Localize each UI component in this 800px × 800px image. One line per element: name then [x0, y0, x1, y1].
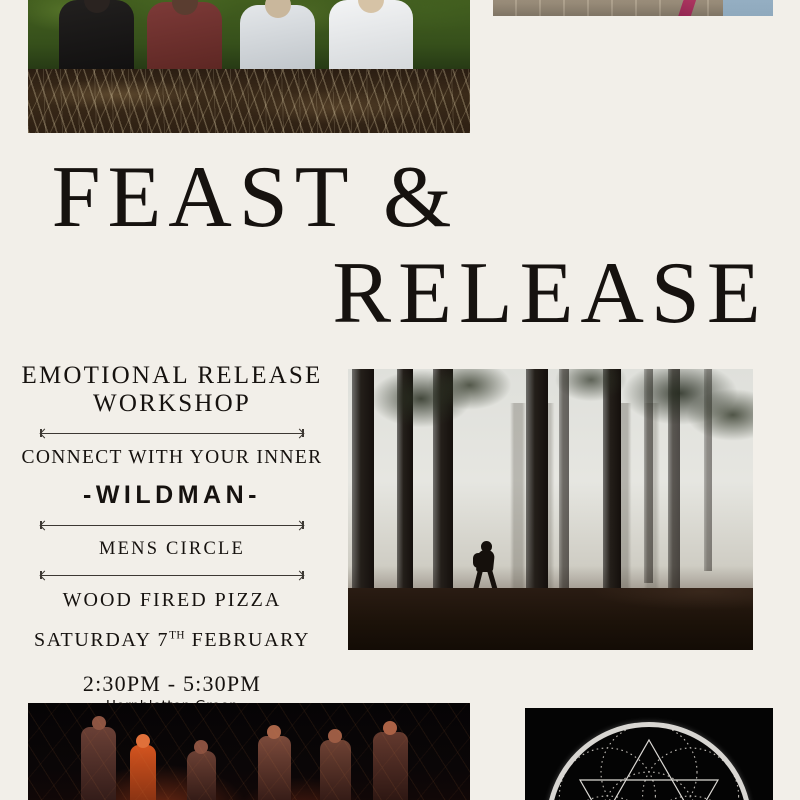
wood-fired-pizza-line: WOOD FIRED PIZZA [16, 589, 328, 612]
floor-sliver-blue-panel [723, 0, 773, 16]
divider-line [42, 525, 302, 526]
workshop-headline-line-one: EMOTIONAL RELEASE [16, 362, 328, 390]
forest-canopy [348, 369, 753, 504]
title-line-two: RELEASE [0, 251, 800, 337]
photo-sacred-geometry [525, 708, 773, 800]
divider-arrow-left-icon [40, 571, 50, 581]
event-date-line: SATURDAY 7TH FEBRUARY [16, 629, 328, 652]
mandala-triangle-down [580, 780, 718, 800]
divider-rule-3 [36, 569, 308, 582]
event-time-line: 2:30PM - 5:30PM [16, 671, 328, 697]
event-date-suffix: FEBRUARY [185, 629, 310, 651]
divider-arrow-left-icon [40, 429, 50, 439]
men-sitting-soil [28, 69, 470, 133]
mens-circle-line: MENS CIRCLE [16, 539, 328, 560]
mandala-dotted-circle [601, 772, 697, 800]
divider-rule-1 [36, 427, 308, 440]
wildman-line: -WILDMAN- [16, 481, 328, 510]
divider-rule-2 [36, 519, 308, 532]
event-date-ordinal: TH [169, 629, 185, 641]
event-details-column: EMOTIONAL RELEASE WORKSHOP CONNECT WITH … [16, 362, 328, 738]
photo-night-fire-circle [28, 703, 470, 800]
figure-head [84, 0, 110, 13]
mandala-geometry-svg [551, 722, 747, 800]
forest-floor [348, 588, 753, 650]
page-title: FEAST & RELEASE [0, 155, 800, 337]
forest-hiker-silhouette [474, 541, 502, 591]
photo-men-sitting [28, 0, 470, 133]
event-date-prefix: SATURDAY 7 [34, 629, 169, 651]
photo-misty-forest [348, 369, 753, 650]
workshop-headline-line-two: WORKSHOP [16, 390, 328, 418]
title-line-one: FEAST & [0, 155, 800, 241]
mandala-dotted-circle [601, 724, 697, 800]
mandala-dotted-circle [643, 748, 739, 800]
divider-arrow-left-icon [40, 521, 50, 531]
mandala-triangle-up [580, 740, 718, 800]
divider-line [42, 433, 302, 434]
night-ember-texture [28, 703, 470, 800]
poster-canvas: FEAST & RELEASE EMOTIONAL RELEASE WORKSH… [0, 0, 800, 800]
divider-line [42, 575, 302, 576]
figure-head [265, 0, 291, 18]
mandala-dotted-circle [559, 748, 655, 800]
connect-line: CONNECT WITH YOUR INNER [16, 447, 328, 469]
workshop-headline: EMOTIONAL RELEASE WORKSHOP [16, 362, 328, 418]
photo-floor-sliver [493, 0, 773, 16]
figure-head [172, 0, 198, 15]
figure-head [358, 0, 384, 13]
